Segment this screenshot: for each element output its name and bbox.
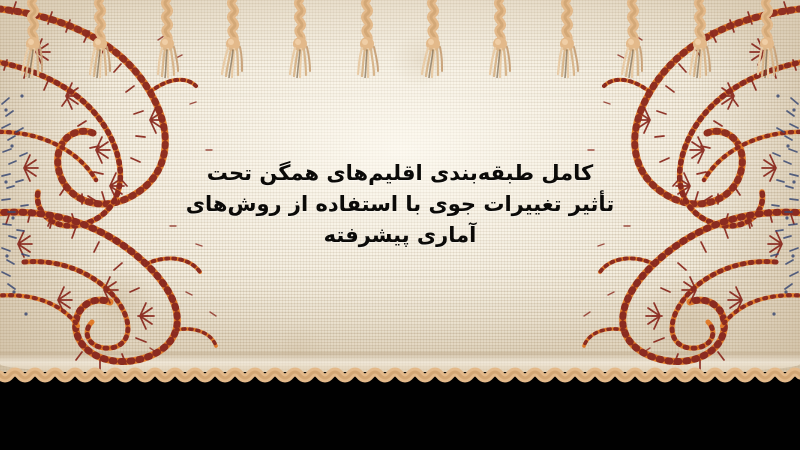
title-line-3: آماری پیشرفته [0,220,800,251]
fringe-tassel [550,0,584,78]
fringe-tassel [283,0,317,78]
fringe-tassel [683,0,717,78]
fringe-tassel [750,0,784,78]
title-line-2: تأثیر تغییرات جوی با استفاده از روش‌های [0,189,800,220]
title-line-1: کامل طبقه‌بندی اقلیم‌های همگن تحت [0,158,800,189]
fringe-tassel [616,0,650,78]
fringe-tassel [350,0,384,78]
fringe-tassel [16,0,50,78]
title-card: کامل طبقه‌بندی اقلیم‌های همگن تحت تأثیر … [0,0,800,450]
fringe-header-cord [0,366,800,384]
fringe-tassel [83,0,117,78]
fringe-tassel [416,0,450,78]
fringe-tassel [216,0,250,78]
fringe-tassel [483,0,517,78]
page-title: کامل طبقه‌بندی اقلیم‌های همگن تحت تأثیر … [0,158,800,251]
fringe-tassel [150,0,184,78]
